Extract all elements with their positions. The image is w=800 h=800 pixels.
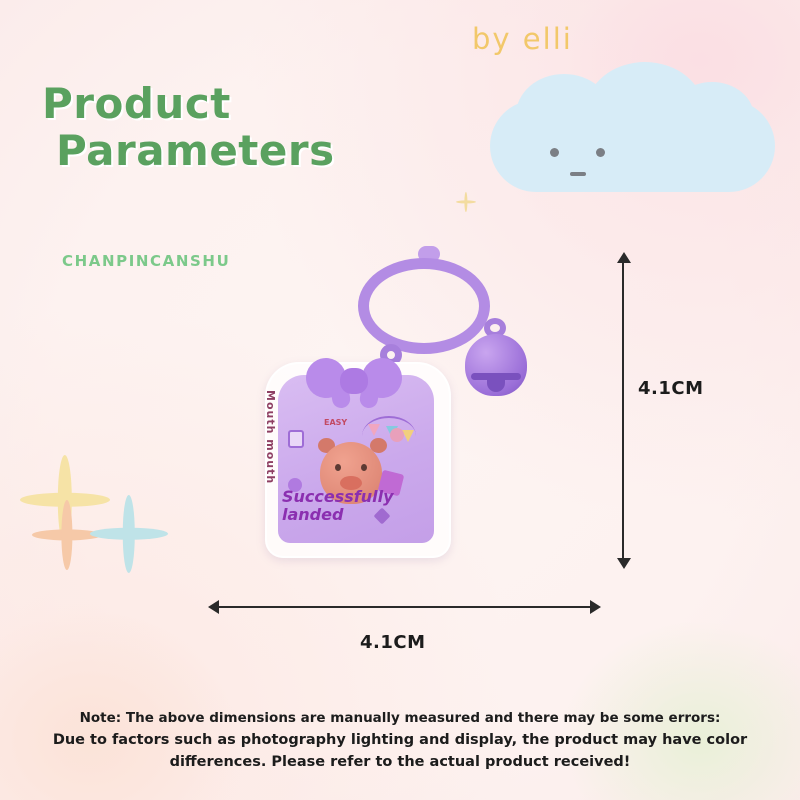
width-dimension-label: 4.1CM bbox=[360, 632, 426, 653]
capybara-eye-right-icon bbox=[361, 464, 367, 471]
cloud-decoration bbox=[490, 62, 775, 192]
keychain-product-photo: Mouth mouth EASY Successfully landed bbox=[262, 240, 552, 560]
width-dimension-line bbox=[218, 606, 592, 608]
bow-knot bbox=[340, 368, 368, 394]
charm-balloon-icon bbox=[390, 428, 404, 442]
charm-main-text: Successfully landed bbox=[282, 488, 402, 525]
disclaimer-line-2: Due to factors such as photography light… bbox=[0, 729, 800, 751]
height-arrow-top bbox=[617, 252, 631, 263]
width-arrow-right bbox=[590, 600, 601, 614]
sparkle-small-icon bbox=[456, 192, 476, 212]
page-title: Product Parameters bbox=[42, 80, 335, 174]
disclaimer-note: Note: The above dimensions are manually … bbox=[0, 708, 800, 774]
charm-side-text: Mouth mouth bbox=[264, 390, 277, 484]
page-title-line-1: Product bbox=[42, 79, 231, 128]
product-parameters-image: by elli Product Parameters CHANPINCANSHU bbox=[0, 0, 800, 800]
charm-badge-text: EASY bbox=[324, 418, 347, 427]
height-dimension-label: 4.1CM bbox=[638, 378, 704, 399]
cloud-mouth-icon bbox=[570, 172, 586, 176]
cloud-eye-left-icon bbox=[550, 148, 559, 157]
disclaimer-line-3: differences. Please refer to the actual … bbox=[0, 751, 800, 773]
capybara-eye-left-icon bbox=[335, 464, 341, 471]
disclaimer-line-1: Note: The above dimensions are manually … bbox=[0, 708, 800, 729]
charm-book-icon bbox=[288, 430, 304, 448]
height-dimension-line bbox=[622, 260, 624, 560]
byline-text: by elli bbox=[472, 22, 573, 56]
page-title-line-2: Parameters bbox=[42, 127, 335, 174]
cloud-eye-right-icon bbox=[596, 148, 605, 157]
bow-charm bbox=[306, 358, 402, 404]
cloud-puff-right bbox=[670, 82, 754, 152]
keyring bbox=[358, 258, 490, 354]
bunting-flag-pink-icon bbox=[368, 424, 380, 436]
sparkle-blue-icon bbox=[90, 495, 168, 573]
page-subtitle: CHANPINCANSHU bbox=[62, 252, 230, 270]
height-arrow-bottom bbox=[617, 558, 631, 569]
